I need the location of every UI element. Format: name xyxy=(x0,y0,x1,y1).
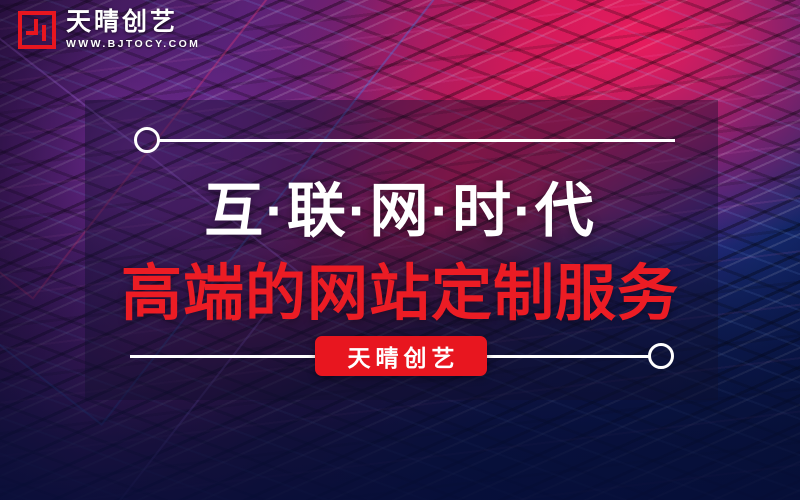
logo-text-block: 天晴创艺 WWW.BJTOCY.COM xyxy=(66,10,200,50)
brand-logo[interactable]: 天晴创艺 WWW.BJTOCY.COM xyxy=(18,10,200,50)
top-divider-rule xyxy=(158,139,675,142)
bottom-divider-rule-left xyxy=(130,355,320,358)
bottom-right-circle-endpoint xyxy=(648,343,674,369)
brand-badge[interactable]: 天晴创艺 xyxy=(315,336,487,376)
brand-badge-label: 天晴创艺 xyxy=(343,339,460,373)
tianqing-square-logo-icon xyxy=(18,11,56,49)
logo-website-url: WWW.BJTOCY.COM xyxy=(66,39,200,50)
promo-banner: 天晴创艺 WWW.BJTOCY.COM 互·联·网·时·代 高端的网站定制服务 … xyxy=(0,0,800,500)
logo-company-name: 天晴创艺 xyxy=(66,10,200,35)
logo-mark-bar-horizontal xyxy=(26,31,36,35)
headline: 互·联·网·时·代 xyxy=(0,163,800,248)
bottom-divider-rule-right xyxy=(482,355,650,358)
top-left-circle-endpoint xyxy=(134,127,160,153)
subheadline: 高端的网站定制服务 xyxy=(0,243,800,332)
logo-mark-bar-right xyxy=(42,25,46,41)
